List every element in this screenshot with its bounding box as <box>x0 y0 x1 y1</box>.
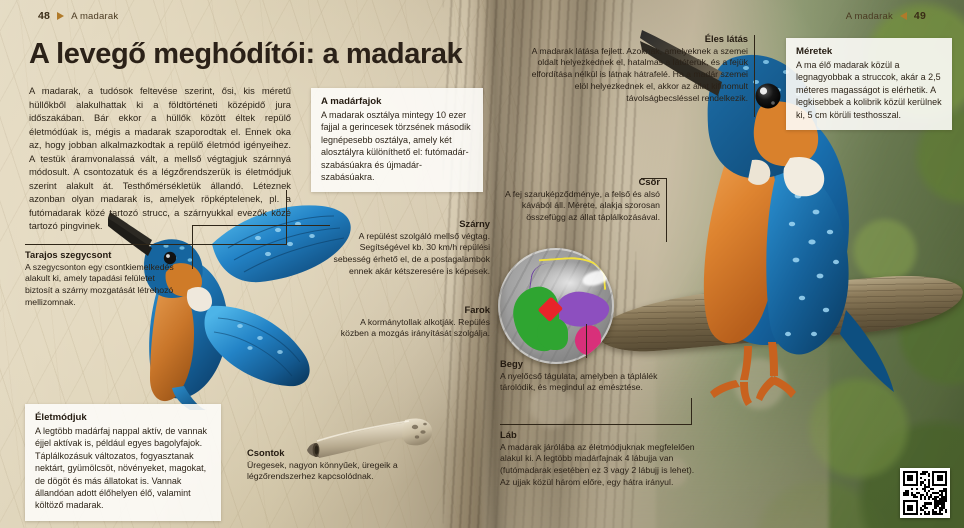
panel-madarfajok-body: A madarak osztálya mintegy 10 ezer fajja… <box>321 109 473 183</box>
callout-szarny-leader <box>192 225 330 226</box>
callout-tarajos-leader <box>286 190 287 245</box>
callout-eles-latas-title: Éles látás <box>520 33 748 44</box>
running-head-left: 48 A madarak <box>38 10 118 22</box>
callout-tarajos-rule <box>25 244 287 245</box>
page-title: A levegő meghódítói: a madarak <box>29 38 462 71</box>
callout-szarny-title: Szárny <box>330 218 490 229</box>
callout-tarajos-body: A szegycsonton egy csontkiemelkedés alak… <box>25 262 175 309</box>
callout-lab-leader <box>691 398 692 425</box>
page-number-left: 48 <box>38 10 50 22</box>
callout-szarny: Szárny A repülést szolgáló mellső végtag… <box>330 218 490 278</box>
page-title-bold: a madarak <box>322 38 462 70</box>
panel-meretek: Méretek A ma élő madarak közül a legnagy… <box>786 38 952 130</box>
running-head-right-label: A madarak <box>846 11 893 22</box>
callout-csontok-title: Csontok <box>247 447 437 458</box>
running-head-right: A madarak 49 <box>846 10 926 22</box>
running-head-left-label: A madarak <box>71 11 118 22</box>
callout-begy-title: Begy <box>500 358 672 369</box>
panel-eletmodjuk-body: A legtöbb madárfaj nappal aktív, de vann… <box>35 425 211 512</box>
callout-csor: Csőr A fej szaruképződménye, a felső és … <box>500 176 660 224</box>
page-title-plain: A levegő meghódítói: <box>29 38 322 70</box>
callout-csor-leader-horizontal <box>641 178 667 179</box>
callout-farok-body: A kormánytollak alkotják. Repülés közben… <box>330 317 490 341</box>
callout-farok-title: Farok <box>330 304 490 315</box>
intro-paragraph: A madarak, a tudósok feltevése szerint, … <box>29 84 291 233</box>
callout-begy-body: A nyelőcső tágulata, amelyben a táplálék… <box>500 371 672 395</box>
callout-csontok: Csontok Üregesek, nagyon könnyűek, ürege… <box>247 447 437 483</box>
callout-csontok-body: Üregesek, nagyon könnyűek, üregeik a lég… <box>247 460 437 484</box>
callout-eles-latas-body: A madarak látása fejlett. Azoknak, amely… <box>520 46 748 105</box>
callout-szarny-leader-kink <box>192 225 193 269</box>
triangle-right-icon <box>57 12 64 20</box>
panel-madarfajok: A madárfajok A madarak osztálya mintegy … <box>311 88 483 192</box>
callout-begy: Begy A nyelőcső tágulata, amelyben a táp… <box>500 358 672 394</box>
callout-csor-body: A fej szaruképződménye, a felső és alsó … <box>500 189 660 224</box>
qr-code-modules <box>903 471 947 515</box>
callout-eles-latas-leader <box>754 35 755 117</box>
panel-meretek-title: Méretek <box>796 46 942 57</box>
callout-eles-latas: Éles látás A madarak látása fejlett. Azo… <box>520 33 748 105</box>
callout-csor-leader <box>666 178 667 242</box>
panel-eletmodjuk: Életmódjuk A legtöbb madárfaj nappal akt… <box>25 404 221 521</box>
callout-lab-rule <box>500 424 692 425</box>
page-number-right: 49 <box>914 10 926 22</box>
textbook-spread: 48 A madarak A madarak 49 A levegő meghó… <box>0 0 964 528</box>
panel-eletmodjuk-title: Életmódjuk <box>35 412 211 423</box>
panel-madarfajok-title: A madárfajok <box>321 96 473 107</box>
qr-code[interactable] <box>900 468 950 518</box>
triangle-left-icon <box>900 12 907 20</box>
callout-tarajos-title: Tarajos szegycsont <box>25 249 175 260</box>
panel-meretek-body: A ma élő madarak közül a legnagyobbak a … <box>796 59 942 121</box>
callout-tarajos-szegycsont: Tarajos szegycsont A szegycsonton egy cs… <box>25 244 175 309</box>
callout-lab-title: Láb <box>500 429 696 440</box>
callout-lab: Láb A madarak járólába az életmódjuknak … <box>500 424 696 489</box>
callout-csor-title: Csőr <box>500 176 660 187</box>
callout-begy-leader <box>586 324 587 358</box>
callout-szarny-body: A repülést szolgáló mellső végtag. Segít… <box>330 231 490 278</box>
callout-farok: Farok A kormánytollak alkotják. Repülés … <box>330 304 490 340</box>
callout-lab-body: A madarak járólába az életmódjuknak megf… <box>500 442 696 489</box>
